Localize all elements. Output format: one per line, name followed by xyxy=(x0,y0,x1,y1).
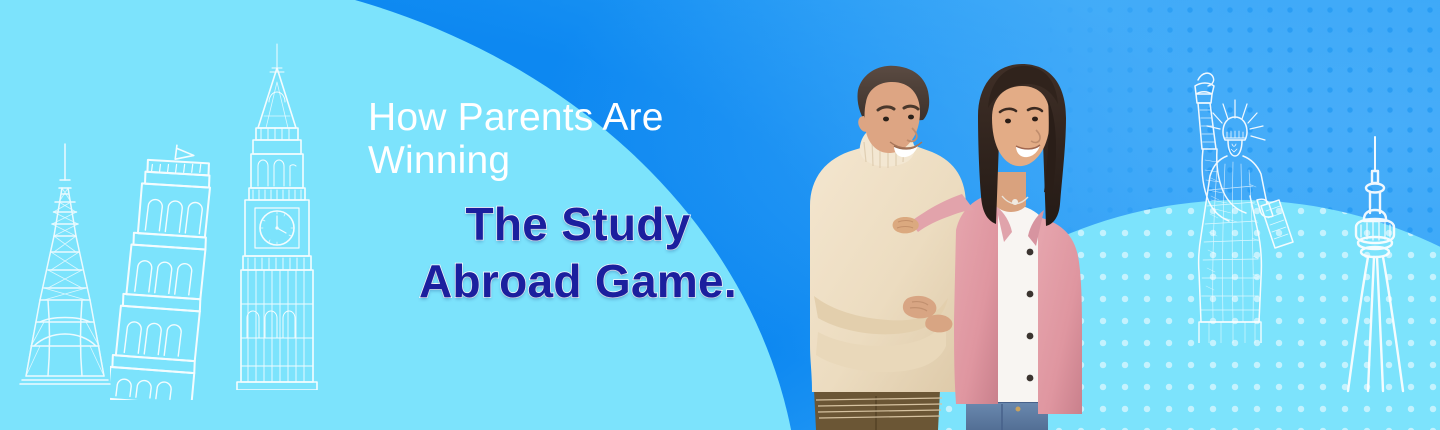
banner-kicker: How Parents Are Winning xyxy=(368,96,788,182)
big-ben-icon xyxy=(225,42,330,390)
banner-headline: The Study Abroad Game. xyxy=(368,196,788,310)
eiffel-tower-icon xyxy=(10,140,120,390)
leaning-tower-of-pisa-icon xyxy=(110,135,225,400)
father-daughter-photo xyxy=(780,46,1110,430)
study-abroad-banner: How Parents Are Winning The Study Abroad… xyxy=(0,0,1440,430)
headline-block: How Parents Are Winning The Study Abroad… xyxy=(368,96,788,310)
statue-of-liberty-icon xyxy=(1165,58,1305,343)
cn-tower-icon xyxy=(1330,135,1420,393)
